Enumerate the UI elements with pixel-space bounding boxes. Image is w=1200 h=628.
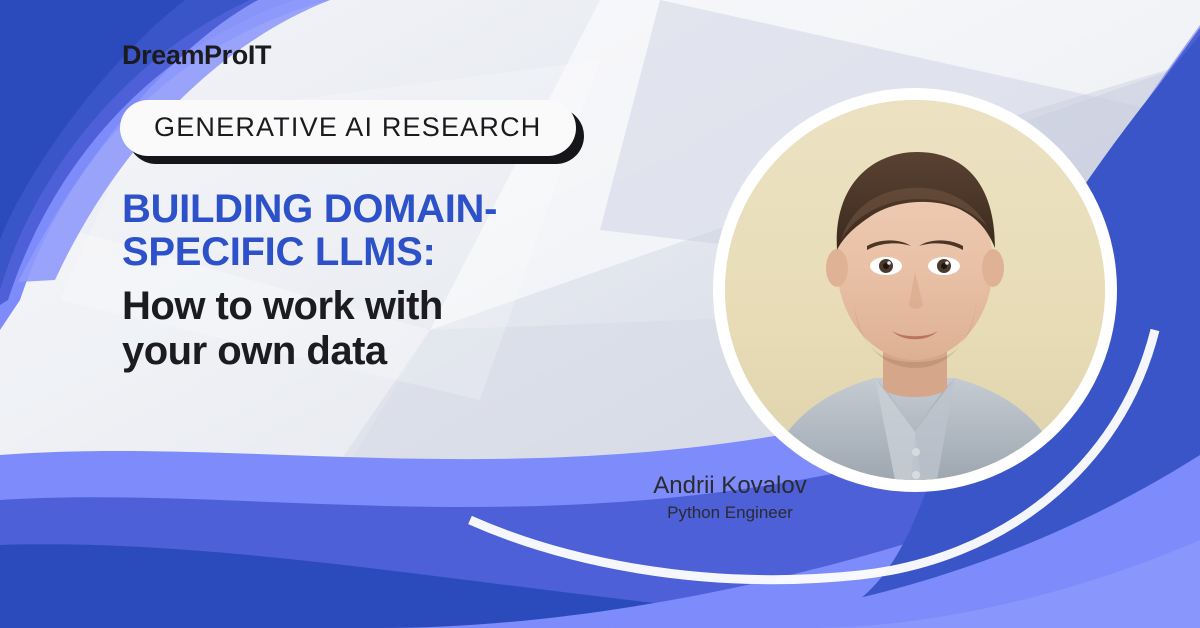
- headshot-illustration: [725, 100, 1105, 480]
- speaker-name: Andrii Kovalov: [595, 472, 865, 500]
- speaker-portrait: [713, 88, 1117, 492]
- portrait-image-clip: [725, 100, 1105, 480]
- speaker-caption: Andrii Kovalov Python Engineer: [595, 472, 865, 523]
- title-block: BUILDING DOMAIN- SPECIFIC LLMS: How to w…: [122, 188, 742, 374]
- badge-pill: GENERATIVE AI RESEARCH: [120, 100, 576, 156]
- badge-label: GENERATIVE AI RESEARCH: [154, 112, 542, 142]
- title-main-line: How to work with your own data: [122, 284, 742, 374]
- title-accent-line: BUILDING DOMAIN- SPECIFIC LLMS:: [122, 188, 742, 274]
- speaker-role: Python Engineer: [595, 503, 865, 523]
- category-badge: GENERATIVE AI RESEARCH: [120, 100, 576, 156]
- promo-banner: DreamProIT GENERATIVE AI RESEARCH BUILDI…: [0, 0, 1200, 628]
- brand-logo: DreamProIT: [122, 40, 271, 71]
